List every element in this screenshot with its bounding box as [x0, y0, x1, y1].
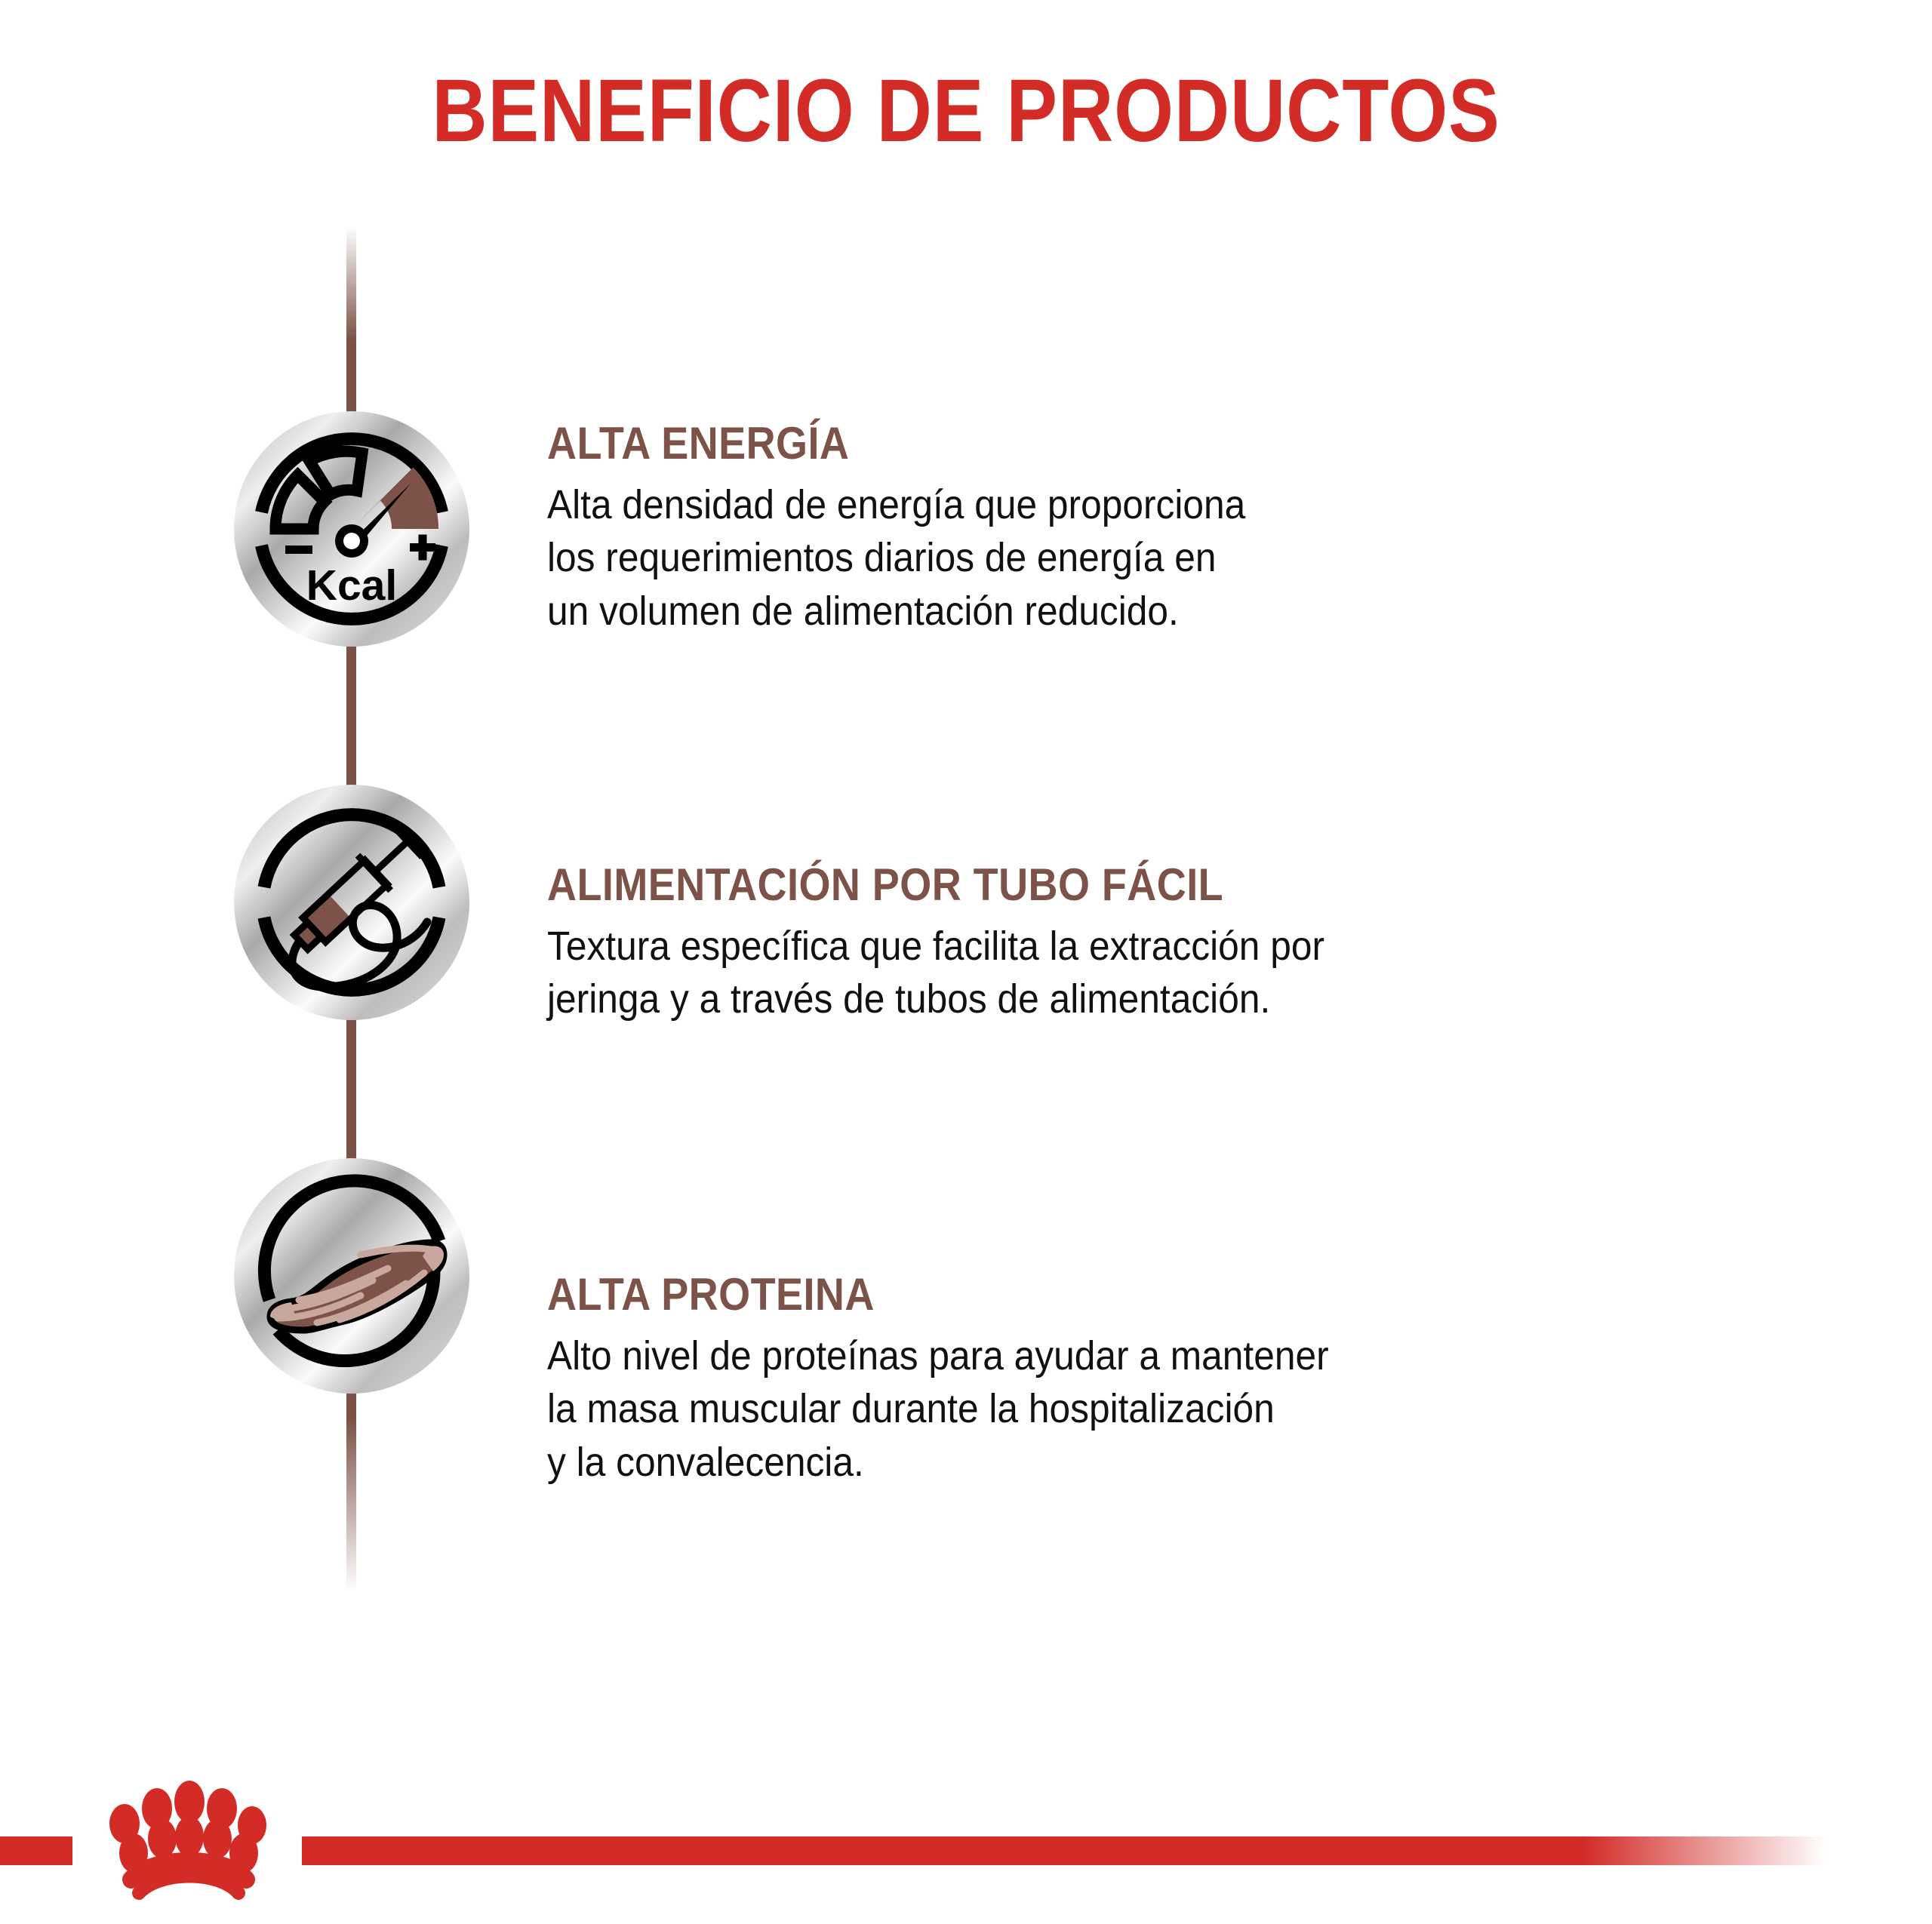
benefit-heading: ALIMENTACIÓN POR TUBO FÁCIL: [547, 862, 1566, 908]
footer-bar-left: [0, 1836, 72, 1865]
muscle-fiber-icon: [234, 1158, 469, 1394]
benefit-text-block: ALTA PROTEINA Alto nivel de proteínas pa…: [547, 1271, 1679, 1489]
syringe-feeding-tube-icon: [234, 785, 469, 1020]
benefits-infographic-page: BENEFICIO DE PRODUCTOS: [0, 0, 1932, 1924]
benefit-text-block: ALTA ENERGÍA Alta densidad de energía qu…: [547, 420, 1679, 638]
royal-canin-logo: [89, 1777, 285, 1920]
benefit-body: Alto nivel de proteínas para ayudar a ma…: [547, 1329, 1589, 1489]
benefit-heading: ALTA PROTEINA: [547, 1271, 1566, 1317]
footer-bar-right: [302, 1836, 1826, 1865]
benefit-text-block: ALIMENTACIÓN POR TUBO FÁCIL Textura espe…: [547, 862, 1679, 1026]
benefit-body: Textura específica que facilita la extra…: [547, 920, 1589, 1025]
svg-text:Kcal: Kcal: [306, 561, 397, 610]
benefit-body: Alta densidad de energía que proporciona…: [547, 478, 1589, 638]
benefit-heading: ALTA ENERGÍA: [547, 420, 1566, 466]
kcal-gauge-icon: Kcal: [234, 411, 469, 647]
page-title: BENEFICIO DE PRODUCTOS: [135, 66, 1797, 155]
